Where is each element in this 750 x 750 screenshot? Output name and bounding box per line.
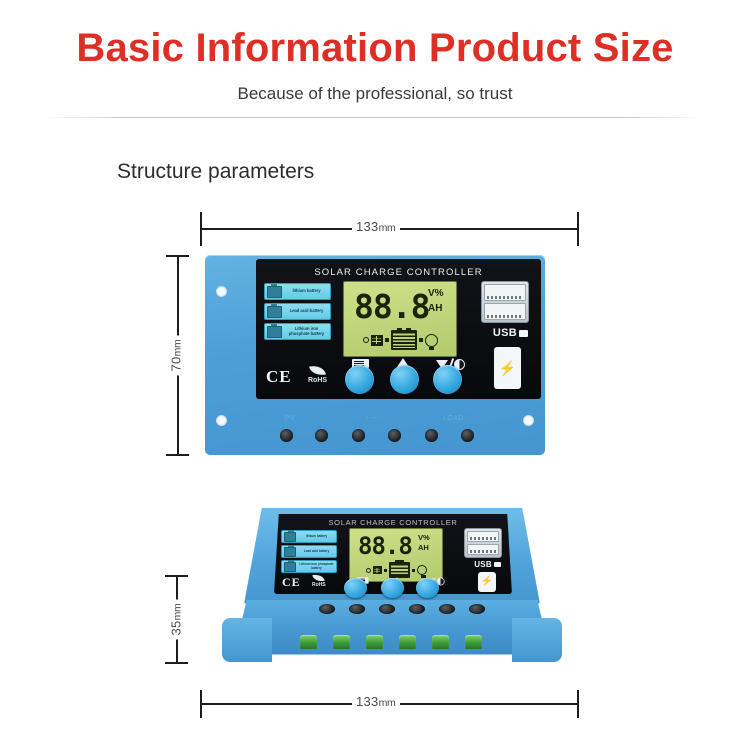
terminal-screw[interactable]: [388, 429, 401, 442]
sun-icon: [366, 568, 371, 573]
mounting-hole: [515, 517, 524, 524]
usb-plug-icon: [519, 330, 528, 337]
terminal-mark-pv: PV: [285, 415, 295, 422]
terminal-mark-battery: + −: [365, 415, 377, 422]
battery-icon: [284, 547, 296, 557]
terminal-mark-load: LOAD: [443, 415, 464, 422]
rohs-label: RoHS: [308, 377, 327, 384]
phone-charging-icon: ⚡: [478, 572, 496, 592]
rohs-leaf-icon: RoHS: [308, 365, 327, 384]
usb-ports[interactable]: [481, 281, 529, 323]
rohs-label: RoHS: [312, 582, 326, 588]
lcd-display: 88.8 V% AH: [343, 281, 457, 357]
terminal-screw[interactable]: [461, 429, 474, 442]
terminal-screw[interactable]: [469, 604, 485, 614]
battery-mode-label: Lithium iron phosphate battery: [285, 327, 328, 336]
lcd-digits: 88.8: [354, 287, 429, 326]
wire-terminal[interactable]: [333, 635, 350, 649]
battery-mode-label: lithium battery: [299, 535, 334, 539]
battery-mode-lifepo4[interactable]: Lithium iron phosphate battery: [281, 560, 337, 573]
panel-title: SOLAR CHARGE CONTROLLER: [274, 518, 512, 527]
battery-mode-label: Lead acid battery: [299, 550, 334, 554]
wire-terminal[interactable]: [300, 635, 317, 649]
terminal-screw[interactable]: [319, 604, 335, 614]
terminal-screw[interactable]: [379, 604, 395, 614]
dim-tick-bottom: [166, 454, 189, 456]
lcd-unit-bottom: AH: [418, 544, 429, 552]
dim-tick-top: [165, 575, 188, 577]
wire-terminal[interactable]: [366, 635, 383, 649]
page-title: Basic Information Product Size: [0, 26, 750, 70]
dim-persp-height-label: 35mm: [168, 600, 183, 640]
wire-terminal[interactable]: [432, 635, 449, 649]
battery-mode-label: Lead acid battery: [285, 309, 328, 314]
panel-title: SOLAR CHARGE CONTROLLER: [256, 267, 541, 278]
product-size-page: Basic Information Product Size Because o…: [0, 0, 750, 750]
usb-label: USB: [493, 327, 528, 339]
dim-tick-right: [577, 212, 579, 246]
battery-mode-list: lithium battery Lead acid battery Lithiu…: [281, 530, 337, 573]
wire-terminal[interactable]: [399, 635, 416, 649]
ce-mark-icon: CE: [282, 575, 301, 590]
lcd-unit-bottom: AH: [428, 304, 442, 314]
wire-terminal[interactable]: [465, 635, 482, 649]
usb-label: USB: [474, 560, 501, 569]
dim-top-width-label: 133mm: [352, 219, 400, 234]
page-subtitle: Because of the professional, so trust: [0, 84, 750, 104]
rohs-leaf-icon: RoHS: [312, 574, 326, 588]
usb-port[interactable]: [467, 544, 499, 555]
battery-icon: [267, 286, 282, 298]
battery-icon: [267, 306, 282, 318]
lcd-display: 88.8 V% AH: [349, 528, 443, 582]
battery-mode-list: lithium battery Lead acid battery Lithiu…: [264, 283, 331, 340]
lcd-flow-row: [350, 562, 442, 578]
dim-tick-top: [166, 255, 189, 257]
terminal-screw[interactable]: [349, 604, 365, 614]
page-header: Basic Information Product Size Because o…: [0, 0, 750, 118]
battery-icon: [389, 562, 410, 578]
solar-charge-controller-front-view: SOLAR CHARGE CONTROLLER lithium battery …: [205, 255, 545, 455]
terminal-strip: PV + − LOAD: [205, 403, 545, 455]
usb-port[interactable]: [467, 531, 499, 542]
battery-icon: [284, 562, 296, 572]
light-bulb-icon: [425, 334, 438, 347]
terminal-screw[interactable]: [315, 429, 328, 442]
terminal-screw[interactable]: [280, 429, 293, 442]
lcd-digits: 88.8: [358, 532, 412, 560]
solar-charge-controller-perspective-view: SOLAR CHARGE CONTROLLER lithium battery …: [222, 500, 562, 685]
up-button[interactable]: [381, 578, 404, 598]
down-button[interactable]: [416, 578, 439, 598]
menu-button[interactable]: [344, 578, 367, 598]
dim-tick-bottom: [165, 662, 188, 664]
battery-icon: [391, 330, 417, 350]
arrow-right-icon: [384, 569, 387, 572]
battery-icon: [284, 532, 296, 542]
battery-mode-label: lithium battery: [285, 289, 328, 294]
battery-mode-lithium[interactable]: lithium battery: [264, 283, 331, 300]
section-heading: Structure parameters: [117, 160, 314, 184]
battery-mode-lithium[interactable]: lithium battery: [281, 530, 337, 543]
mounting-hole: [532, 633, 548, 644]
battery-mode-lead-acid[interactable]: Lead acid battery: [281, 545, 337, 558]
usb-plug-icon: [494, 562, 501, 567]
down-button[interactable]: [433, 365, 462, 394]
terminal-screw[interactable]: [425, 429, 438, 442]
arrow-right-icon: [385, 338, 389, 342]
arrow-right-icon: [412, 569, 415, 572]
dim-front-height-label: 70mm: [168, 336, 183, 376]
usb-port[interactable]: [484, 303, 526, 320]
ce-mark-icon: CE: [266, 367, 292, 387]
lcd-flow-row: [344, 330, 456, 350]
terminal-screw[interactable]: [439, 604, 455, 614]
solar-panel-icon: [373, 566, 382, 574]
light-bulb-icon: [417, 565, 427, 575]
mounting-hole: [236, 633, 252, 644]
up-button[interactable]: [390, 365, 419, 394]
phone-charging-icon: ⚡: [494, 347, 521, 389]
usb-port[interactable]: [484, 284, 526, 301]
mounting-hole: [260, 517, 269, 524]
dim-tick-right: [577, 690, 579, 718]
battery-mode-label: Lithium iron phosphate battery: [299, 563, 334, 570]
battery-icon: [267, 326, 282, 338]
solar-panel-icon: [371, 335, 383, 346]
arrow-right-icon: [419, 338, 423, 342]
terminal-screw[interactable]: [409, 604, 425, 614]
battery-mode-lifepo4[interactable]: Lithium iron phosphate battery: [264, 323, 331, 340]
terminal-screw[interactable]: [352, 429, 365, 442]
battery-mode-lead-acid[interactable]: Lead acid battery: [264, 303, 331, 320]
dim-bottom-width-label: 133mm: [352, 694, 400, 709]
menu-button[interactable]: [345, 365, 374, 394]
lcd-unit-top: V%: [428, 289, 444, 299]
header-divider: [45, 117, 705, 118]
sun-icon: [363, 337, 369, 343]
lcd-unit-top: V%: [418, 534, 430, 542]
usb-ports[interactable]: [464, 528, 502, 558]
mounting-hole: [216, 286, 227, 297]
